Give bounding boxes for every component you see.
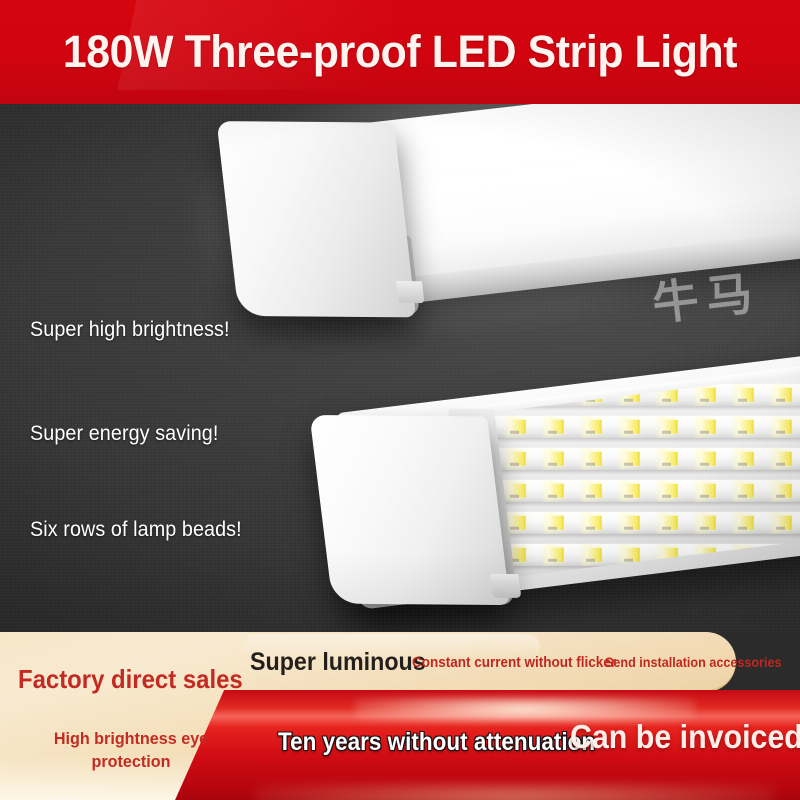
cream-banner-headline: Super luminous <box>250 648 426 677</box>
product-photo-stage: 牛马 <box>0 104 800 632</box>
feature-callout-lamp-beads: Six rows of lamp beads! <box>30 518 242 542</box>
factory-panel-subtitle: High brightness eye protection <box>41 728 222 774</box>
feature-callout-energy: Super energy saving! <box>30 422 218 446</box>
cream-banner-note-accessories: Send installation accessories <box>605 654 781 670</box>
header-banner: 180W Three-proof LED Strip Light <box>0 0 800 104</box>
red-bar-base-glow <box>255 784 775 800</box>
factory-panel-title: Factory direct sales <box>18 664 243 695</box>
stage-vignette <box>0 104 800 632</box>
red-bar-highlight <box>355 698 695 720</box>
footer-label-invoiced: Can be invoiced <box>570 718 800 756</box>
product-advertisement: 180W Three-proof LED Strip Light <box>0 0 800 800</box>
cream-banner-note-flicker: Constant current without flicker <box>412 654 616 671</box>
page-title: 180W Three-proof LED Strip Light <box>20 0 780 104</box>
feature-callout-brightness: Super high brightness! <box>30 318 230 342</box>
footer-label-attenuation: Ten years without attenuation <box>278 728 595 757</box>
